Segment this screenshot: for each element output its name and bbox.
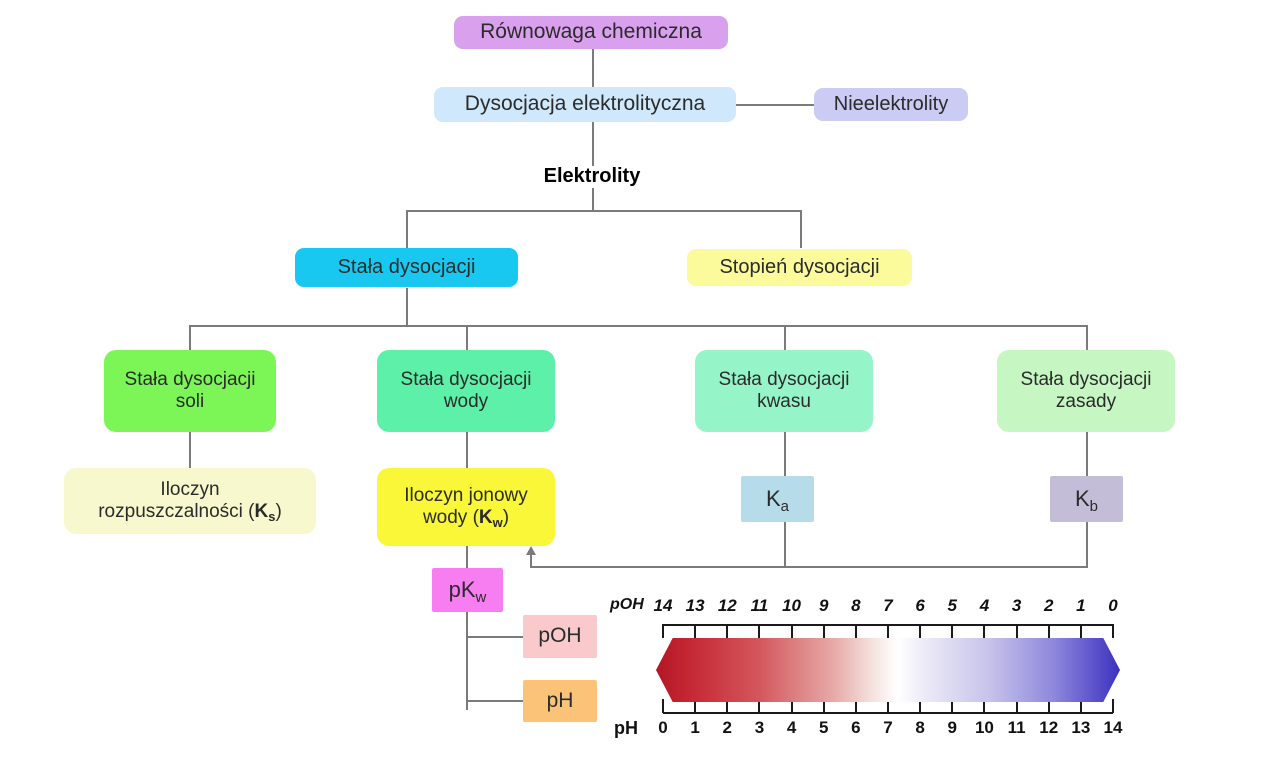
poh-tick-label: 0: [1097, 596, 1129, 616]
connector-to-wody: [466, 325, 468, 350]
ph-tick-label: 4: [776, 718, 808, 738]
node-ph[interactable]: pH: [523, 680, 597, 722]
connector-dysocjacja-elektrolity: [592, 122, 594, 166]
node-label-line2: kwasu: [757, 391, 811, 413]
connector-soli-ks: [189, 432, 191, 468]
ph-tick: [1112, 699, 1114, 713]
poh-tick: [855, 624, 857, 638]
pkw-label: pKw: [449, 577, 487, 603]
node-dysocjacja-elektrolityczna[interactable]: Dysocjacja elektrolityczna: [434, 87, 736, 122]
ph-tick-label: 14: [1097, 718, 1129, 738]
node-poh[interactable]: pOH: [523, 615, 597, 658]
node-iloczyn-jonowy-wody[interactable]: Iloczyn jonowy wody (Kw): [377, 468, 555, 546]
poh-tick: [951, 624, 953, 638]
connector-pkw-stem: [466, 612, 468, 710]
node-label-line1: Iloczyn: [160, 479, 219, 501]
ph-poh-scale: pOH pH 14131211109876543210 012345678910…: [610, 592, 1130, 752]
node-stala-dysocjacji-wody[interactable]: Stała dysocjacji wody: [377, 350, 555, 432]
node-nieelektrolity[interactable]: Nieelektrolity: [814, 88, 968, 121]
kb-label: Kb: [1075, 486, 1098, 512]
node-stala-dysocjacji-soli[interactable]: Stała dysocjacji soli: [104, 350, 276, 432]
ph-tick-label: 6: [840, 718, 872, 738]
connector-level2-bar: [406, 210, 802, 212]
connector-feedback-riser: [530, 554, 532, 568]
ph-tick-label: 2: [711, 718, 743, 738]
node-stopien-dysocjacji[interactable]: Stopień dysocjacji: [687, 249, 912, 286]
poh-tick: [1112, 624, 1114, 638]
poh-tick-label: 7: [872, 596, 904, 616]
poh-tick-label: 2: [1033, 596, 1065, 616]
poh-tick-label: 5: [936, 596, 968, 616]
connector-kb-down: [1086, 522, 1088, 568]
ph-tick-label: 11: [1001, 718, 1033, 738]
node-label-line2: wody (Kw): [423, 507, 509, 529]
poh-tick: [1016, 624, 1018, 638]
connector-level3-bar: [189, 325, 1088, 327]
poh-tick-label: 11: [743, 596, 775, 616]
poh-axis-title: pOH: [610, 596, 644, 614]
connector-to-stala: [406, 210, 408, 248]
poh-tick: [919, 624, 921, 638]
ph-tick-label: 5: [808, 718, 840, 738]
feedback-arrow-icon: [526, 546, 536, 555]
node-label-line2: rozpuszczalności (Ks): [98, 501, 282, 523]
poh-tick: [983, 624, 985, 638]
poh-tick: [1048, 624, 1050, 638]
poh-tick: [694, 624, 696, 638]
connector-dysocjacja-nieelektrolity: [735, 104, 815, 106]
connector-wody-kw: [466, 432, 468, 468]
ph-tick-label: 13: [1065, 718, 1097, 738]
ph-tick-label: 7: [872, 718, 904, 738]
poh-tick-label: 8: [840, 596, 872, 616]
ph-tick-label: 12: [1033, 718, 1065, 738]
poh-tick-label: 3: [1001, 596, 1033, 616]
poh-tick-label: 6: [904, 596, 936, 616]
poh-tick-label: 1: [1065, 596, 1097, 616]
ph-tick-label: 9: [936, 718, 968, 738]
node-stala-dysocjacji-kwasu[interactable]: Stała dysocjacji kwasu: [695, 350, 873, 432]
ph-tick: [662, 699, 664, 713]
node-ka[interactable]: Ka: [741, 476, 814, 522]
connector-zasady-kb: [1086, 432, 1088, 476]
poh-tick-label: 13: [679, 596, 711, 616]
node-elektrolity: Elektrolity: [492, 165, 692, 189]
poh-tick: [791, 624, 793, 638]
connector-rownowaga-dysocjacja: [592, 48, 594, 88]
connector-to-stopien: [800, 210, 802, 248]
poh-tick-label: 10: [776, 596, 808, 616]
poh-tick: [758, 624, 760, 638]
node-pkw[interactable]: pKw: [432, 568, 503, 612]
poh-tick-label: 4: [968, 596, 1000, 616]
ph-tick-label: 8: [904, 718, 936, 738]
node-iloczyn-rozpuszczalnosci[interactable]: Iloczyn rozpuszczalności (Ks): [64, 468, 316, 534]
node-stala-dysocjacji-zasady[interactable]: Stała dysocjacji zasady: [997, 350, 1175, 432]
ph-tick-label: 1: [679, 718, 711, 738]
node-label-line1: Stała dysocjacji: [1021, 369, 1152, 391]
poh-tick: [726, 624, 728, 638]
poh-tick: [1080, 624, 1082, 638]
connector-stala-stem: [406, 288, 408, 326]
node-label-line2: zasady: [1056, 391, 1116, 413]
connector-to-zasady: [1086, 325, 1088, 350]
connector-elektrolity-stem: [592, 188, 594, 212]
poh-tick-label: 12: [711, 596, 743, 616]
poh-tick: [887, 624, 889, 638]
connector-kw-pkw: [466, 546, 468, 568]
node-label-line1: Iloczyn jonowy: [404, 485, 528, 507]
ph-tick-label: 10: [968, 718, 1000, 738]
ph-tick-label: 0: [647, 718, 679, 738]
node-label-line2: soli: [176, 391, 205, 413]
ph-color-gradient-bar: [656, 638, 1120, 702]
node-label-line2: wody: [444, 391, 488, 413]
node-rownowaga-chemiczna[interactable]: Równowaga chemiczna: [454, 16, 728, 49]
node-label-line1: Stała dysocjacji: [719, 369, 850, 391]
connector-feedback-bar: [530, 566, 1088, 568]
connector-to-kwasu: [784, 325, 786, 350]
poh-tick-label: 9: [808, 596, 840, 616]
node-stala-dysocjacji[interactable]: Stała dysocjacji: [295, 248, 518, 287]
ka-label: Ka: [766, 486, 789, 512]
node-label-line1: Stała dysocjacji: [125, 369, 256, 391]
connector-pkw-poh: [466, 636, 524, 638]
node-label-line1: Stała dysocjacji: [401, 369, 532, 391]
poh-tick-label: 14: [647, 596, 679, 616]
connector-pkw-ph: [466, 700, 524, 702]
connector-to-soli: [189, 325, 191, 350]
poh-tick: [662, 624, 664, 638]
connector-kwasu-ka: [784, 432, 786, 476]
poh-tick: [823, 624, 825, 638]
ph-axis-title: pH: [614, 718, 638, 739]
connector-ka-down: [784, 522, 786, 568]
ph-tick-label: 3: [743, 718, 775, 738]
node-kb[interactable]: Kb: [1050, 476, 1123, 522]
